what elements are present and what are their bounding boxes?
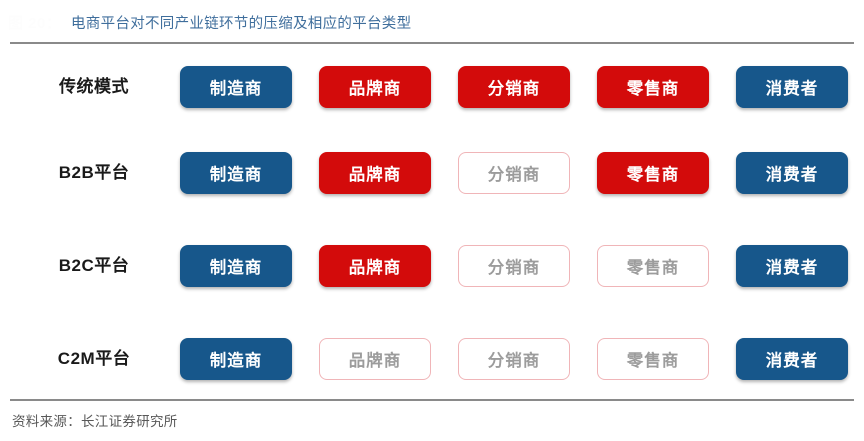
row-nodes: 制造商 品牌商 分销商 零售商 消费者	[180, 152, 848, 194]
table-row: B2B平台 制造商 品牌商 分销商 零售商 消费者	[0, 152, 864, 194]
row-label-c2m: C2M平台	[14, 338, 174, 380]
node-consumer[interactable]: 消费者	[736, 152, 848, 194]
row-nodes: 制造商 品牌商 分销商 零售商 消费者	[180, 66, 848, 108]
node-distributor[interactable]: 分销商	[458, 245, 570, 287]
diagram-rows: 传统模式 制造商 品牌商 分销商 零售商 消费者 B2B平台 制造商 品牌商 分…	[0, 44, 864, 398]
node-consumer[interactable]: 消费者	[736, 338, 848, 380]
node-manufacturer[interactable]: 制造商	[180, 245, 292, 287]
node-consumer[interactable]: 消费者	[736, 245, 848, 287]
row-label-traditional: 传统模式	[14, 66, 174, 108]
node-distributor[interactable]: 分销商	[458, 66, 570, 108]
row-label-b2c: B2C平台	[14, 245, 174, 287]
node-brand[interactable]: 品牌商	[319, 152, 431, 194]
page-title: 电商平台对不同产业链环节的压缩及相应的平台类型	[71, 12, 411, 33]
node-consumer[interactable]: 消费者	[736, 66, 848, 108]
node-retailer[interactable]: 零售商	[597, 66, 709, 108]
node-distributor[interactable]: 分销商	[458, 338, 570, 380]
node-brand[interactable]: 品牌商	[319, 338, 431, 380]
row-nodes: 制造商 品牌商 分销商 零售商 消费者	[180, 338, 848, 380]
footer-divider	[10, 399, 854, 401]
table-row: C2M平台 制造商 品牌商 分销商 零售商 消费者	[0, 338, 864, 380]
figure-container: 图 20： 电商平台对不同产业链环节的压缩及相应的平台类型 传统模式 制造商 品…	[0, 0, 864, 441]
node-manufacturer[interactable]: 制造商	[180, 152, 292, 194]
node-manufacturer[interactable]: 制造商	[180, 66, 292, 108]
table-row: 传统模式 制造商 品牌商 分销商 零售商 消费者	[0, 66, 864, 108]
figure-label: 图 20：	[8, 12, 61, 33]
table-row: B2C平台 制造商 品牌商 分销商 零售商 消费者	[0, 245, 864, 287]
node-distributor[interactable]: 分销商	[458, 152, 570, 194]
node-brand[interactable]: 品牌商	[319, 245, 431, 287]
node-retailer[interactable]: 零售商	[597, 152, 709, 194]
row-label-b2b: B2B平台	[14, 152, 174, 194]
node-retailer[interactable]: 零售商	[597, 245, 709, 287]
node-brand[interactable]: 品牌商	[319, 66, 431, 108]
source-note: 资料来源：长江证券研究所	[12, 410, 178, 430]
row-nodes: 制造商 品牌商 分销商 零售商 消费者	[180, 245, 848, 287]
node-manufacturer[interactable]: 制造商	[180, 338, 292, 380]
node-retailer[interactable]: 零售商	[597, 338, 709, 380]
